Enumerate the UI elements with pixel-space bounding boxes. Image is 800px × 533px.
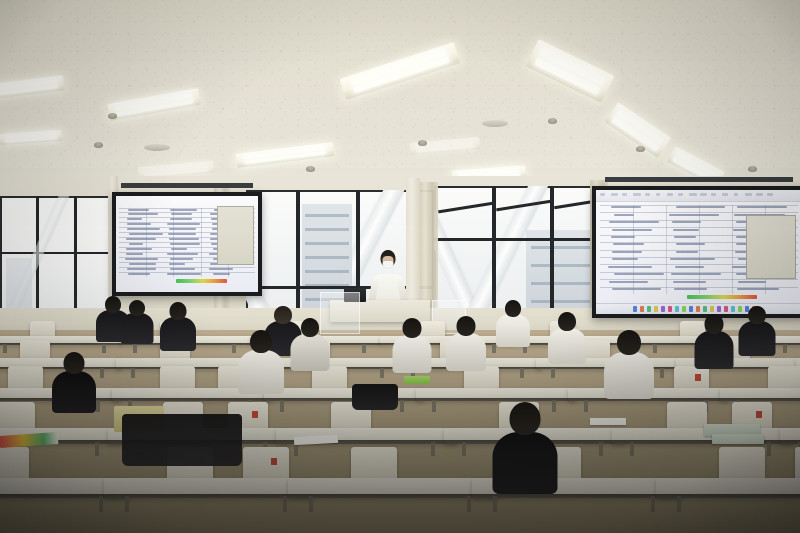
- attendee: [738, 306, 775, 359]
- cell-text: [614, 214, 634, 216]
- spreadsheet-column: [732, 205, 733, 294]
- attendee: [694, 314, 733, 372]
- cell-text: [676, 206, 725, 208]
- attendee-head: [704, 314, 723, 334]
- cell-text: [167, 253, 198, 255]
- attendee-head: [129, 300, 145, 316]
- attendee-head: [274, 306, 292, 324]
- attendee: [392, 318, 431, 376]
- attendee-torso: [694, 331, 733, 369]
- taskbar-icon[interactable]: [633, 306, 637, 312]
- toolbar-button[interactable]: [667, 193, 674, 196]
- attendee: [446, 316, 486, 374]
- cell-text: [167, 223, 200, 225]
- attendee-head: [509, 402, 540, 435]
- cell-text: [169, 263, 185, 265]
- notebook-prop: [404, 376, 430, 384]
- cell-text: [129, 263, 156, 265]
- attendee: [52, 352, 96, 416]
- cell-text: [608, 266, 652, 268]
- spreadsheet-column: [699, 205, 700, 294]
- sprinkler-icon: [636, 146, 645, 152]
- taskbar-icon[interactable]: [717, 306, 721, 312]
- screen-surface: [116, 196, 258, 292]
- chair: [719, 447, 765, 482]
- attendee-head: [170, 302, 187, 320]
- highlight-bar: [176, 279, 227, 283]
- mullion: [492, 186, 496, 314]
- bag-prop: [352, 384, 398, 410]
- cell-text: [128, 213, 158, 215]
- cell-text: [126, 248, 152, 250]
- sprinkler-icon: [108, 113, 117, 119]
- cell-text: [612, 288, 661, 290]
- attendee-torso: [496, 314, 530, 347]
- attendee-head: [558, 312, 576, 331]
- attendee: [238, 330, 284, 397]
- cell-text: [127, 218, 142, 220]
- chair: [351, 447, 397, 482]
- attendee-torso: [120, 313, 153, 344]
- side-panel: [217, 206, 254, 266]
- attendee-head: [457, 316, 476, 336]
- cell-text: [127, 268, 156, 270]
- cell-text: [669, 214, 719, 216]
- taskbar-icon[interactable]: [731, 306, 735, 312]
- cell-text: [673, 281, 706, 283]
- chair: [795, 447, 800, 482]
- toolbar-button[interactable]: [767, 193, 773, 196]
- cell-text: [676, 243, 705, 245]
- cell-text: [670, 258, 714, 260]
- toolbar-button[interactable]: [678, 193, 683, 196]
- attendee-torso: [604, 352, 654, 399]
- cell-text: [127, 223, 151, 225]
- cell-text: [126, 253, 143, 255]
- taskbar-icon[interactable]: [703, 306, 707, 312]
- toolbar-button[interactable]: [645, 193, 650, 196]
- toolbar-button[interactable]: [689, 193, 697, 196]
- cell-text: [170, 209, 196, 211]
- spreadsheet-toolbar: [596, 190, 800, 202]
- toolbar-button[interactable]: [622, 193, 626, 196]
- mullion: [434, 238, 612, 241]
- cell-text: [125, 258, 157, 260]
- taskbar-icon[interactable]: [661, 306, 665, 312]
- cell-text: [209, 268, 233, 270]
- screen-surface: [596, 190, 800, 314]
- sprinkler-icon: [418, 140, 427, 146]
- speaker-icon: [144, 144, 170, 151]
- sprinkler-icon: [548, 118, 557, 124]
- desk: [104, 478, 314, 498]
- cell-text: [609, 281, 649, 283]
- attendee-head: [301, 318, 319, 337]
- curtain: [418, 182, 438, 314]
- taskbar-icon[interactable]: [696, 306, 700, 312]
- attendee-head: [617, 330, 641, 355]
- taskbar-icon[interactable]: [640, 306, 644, 312]
- toolbar-button[interactable]: [611, 193, 618, 196]
- attendee-head: [748, 306, 766, 324]
- attendee: [120, 300, 153, 347]
- cell-text: [612, 258, 639, 260]
- toolbar-button[interactable]: [633, 193, 641, 196]
- sprinkler-icon: [748, 166, 757, 172]
- attendee-torso: [290, 334, 329, 371]
- mullion: [296, 190, 300, 316]
- cell-text: [129, 243, 143, 245]
- cell-text: [612, 251, 642, 253]
- taskbar-icon[interactable]: [682, 306, 686, 312]
- left-projection-screen[interactable]: [112, 192, 262, 296]
- cell-text: [673, 229, 699, 231]
- speaker-icon: [482, 120, 508, 127]
- spreadsheet-column: [666, 205, 667, 294]
- attendee-torso: [392, 335, 431, 373]
- desk: [780, 428, 800, 444]
- taskbar-icon[interactable]: [647, 306, 651, 312]
- spreadsheet-column: [173, 208, 174, 277]
- attendee-torso: [52, 371, 96, 413]
- attendee-torso: [738, 321, 775, 356]
- toolbar-button[interactable]: [722, 193, 727, 196]
- attendee: [604, 330, 654, 402]
- mullion: [74, 196, 77, 314]
- toolbar-button[interactable]: [756, 193, 763, 196]
- desk: [264, 388, 424, 401]
- taskbar-icon[interactable]: [654, 306, 658, 312]
- taskbar-icon[interactable]: [675, 306, 679, 312]
- chair: [0, 447, 29, 482]
- highlight-bar: [687, 295, 757, 299]
- screen-mount: [121, 183, 253, 188]
- attendee-torso: [238, 350, 284, 394]
- spreadsheet-column: [201, 208, 202, 277]
- toolbar-button[interactable]: [700, 193, 707, 196]
- attendee-head: [64, 352, 85, 374]
- spreadsheet-column: [633, 205, 634, 294]
- cell-text: [672, 221, 701, 223]
- spreadsheet-column: [146, 208, 147, 277]
- cell-text: [613, 243, 644, 245]
- cell-text: [611, 236, 635, 238]
- face-mask-icon: [383, 261, 394, 268]
- cell-text: [737, 206, 787, 208]
- toolbar-button[interactable]: [656, 193, 661, 196]
- desk: [720, 388, 800, 401]
- attendee: [290, 318, 329, 374]
- taskbar-icon[interactable]: [710, 306, 714, 312]
- cell-text: [676, 251, 698, 253]
- classroom-photo: Lecture room training session Wide inter…: [0, 0, 800, 533]
- taskbar-icon[interactable]: [668, 306, 672, 312]
- mullion: [0, 252, 112, 254]
- sprinkler-icon: [306, 166, 315, 172]
- attendee-head: [250, 330, 272, 353]
- cell-text: [126, 238, 156, 240]
- cell-text: [674, 236, 696, 238]
- toolbar-button[interactable]: [711, 193, 715, 196]
- attendee: [160, 302, 196, 354]
- attendee-torso: [160, 317, 196, 351]
- screen-mount: [605, 177, 793, 182]
- cell-text: [671, 273, 721, 275]
- desk: [612, 428, 794, 444]
- attendee-torso: [446, 333, 486, 371]
- attendee-head: [505, 300, 521, 317]
- desk: [416, 388, 576, 401]
- bag-prop: [122, 414, 242, 466]
- taskbar-icon[interactable]: [689, 306, 693, 312]
- cell-text: [737, 288, 778, 290]
- attendee: [548, 312, 586, 367]
- attendee-torso: [548, 328, 586, 364]
- attendee-torso: [492, 432, 557, 494]
- mullion: [550, 186, 554, 314]
- window-right: [434, 186, 612, 314]
- cell-text: [738, 281, 766, 283]
- attendee: [492, 402, 557, 497]
- attendee-head: [105, 296, 121, 313]
- desk: [288, 478, 498, 498]
- taskbar-icon[interactable]: [724, 306, 728, 312]
- toolbar-button[interactable]: [734, 193, 739, 196]
- wall-pier: [406, 178, 420, 318]
- chair: [243, 447, 289, 482]
- attendee-head: [402, 318, 421, 338]
- sprinkler-icon: [94, 142, 103, 148]
- paper-prop: [590, 418, 626, 425]
- folder-prop: [712, 434, 764, 444]
- cell-text: [674, 288, 707, 290]
- cell-text: [614, 273, 664, 275]
- attendee: [496, 300, 530, 350]
- cell-text: [127, 228, 160, 230]
- right-projection-screen[interactable]: [592, 186, 800, 318]
- awning-sash: [438, 202, 494, 214]
- toolbar-button[interactable]: [745, 193, 752, 196]
- side-panel: [746, 215, 795, 279]
- cell-text: [611, 206, 641, 208]
- exterior-building: [6, 258, 32, 314]
- desk: [656, 478, 800, 498]
- toolbar-button[interactable]: [600, 193, 605, 196]
